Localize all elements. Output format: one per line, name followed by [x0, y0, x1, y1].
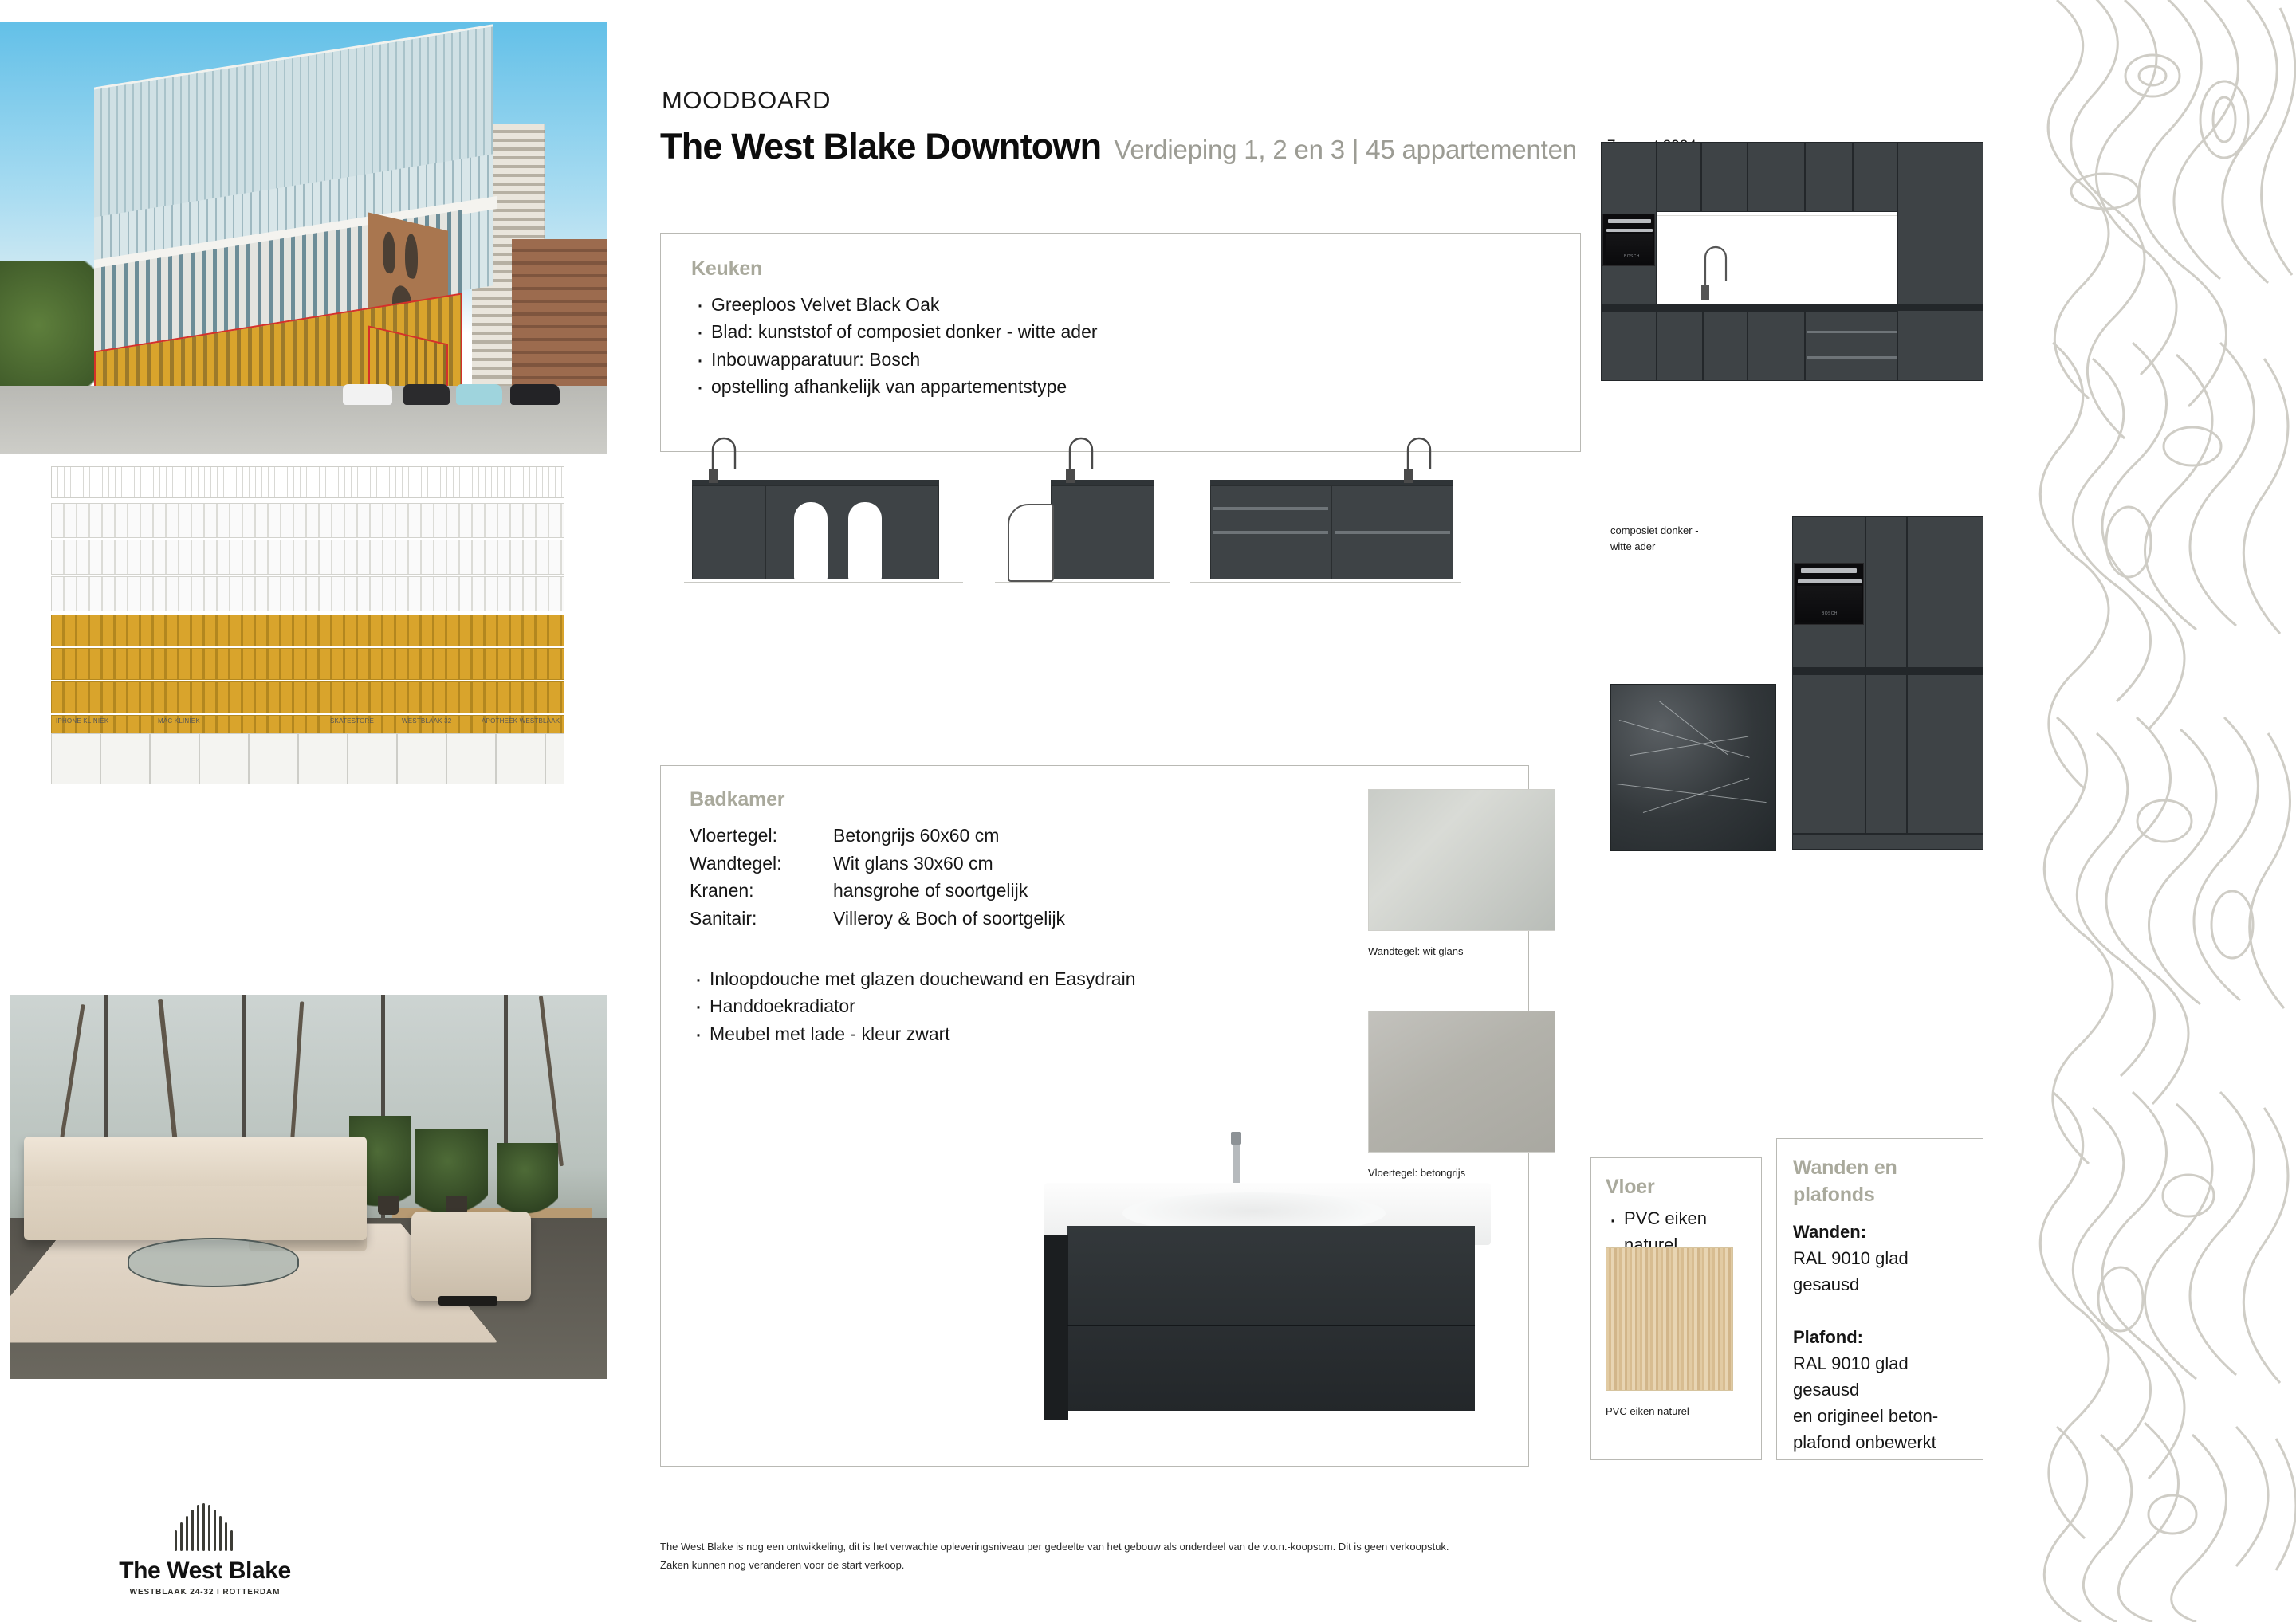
tall-cabinet	[1866, 516, 1907, 668]
wall-cabinet	[1805, 142, 1853, 212]
bathroom-spec-list: Vloertegel: Betongrijs 60x60 cm Wandtege…	[690, 822, 1184, 932]
oven-brand-label: BOSCH	[1624, 254, 1640, 259]
spec-value: hansgrohe of soortgelijk	[833, 877, 1028, 905]
oven-brand-label: BOSCH	[1822, 611, 1838, 616]
facade-floor	[51, 503, 564, 538]
bar-stool	[1008, 504, 1054, 582]
kitchen-panel: Keuken Greeploos Velvet Black Oak Blad: …	[660, 233, 1581, 452]
wanden-heading-line2: plafonds	[1793, 1184, 1875, 1207]
indoor-plant	[497, 1143, 558, 1219]
faucet-icon	[1699, 238, 1732, 302]
faucet-icon	[1402, 434, 1438, 485]
vanity-side-panel	[1044, 1235, 1068, 1420]
kitchen-bullet-list: Greeploos Velvet Black Oak Blad: kunstst…	[691, 291, 1098, 400]
marble-vein	[1659, 701, 1728, 756]
facade-roof	[51, 466, 564, 498]
lounge-chair-base	[438, 1296, 497, 1306]
kitchen-elevation-render: BOSCH	[1601, 142, 1983, 381]
spec-value: Wit glans 30x60 cm	[833, 850, 993, 878]
facade-floor	[51, 576, 564, 611]
spec-row: Sanitair: Villeroy & Boch of soortgelijk	[690, 905, 1184, 933]
ceiling-label: Plafond:	[1793, 1327, 1863, 1347]
page-kicker: MOODBOARD	[662, 86, 831, 115]
base-cabinet	[1657, 311, 1703, 381]
facade-label: WESTBLAAK 32	[402, 717, 451, 725]
wall-cabinet	[1657, 142, 1701, 212]
spec-row: Wandtegel: Wit glans 30x60 cm	[690, 850, 1184, 878]
ceiling-value-line3: plafond onbewerkt	[1793, 1432, 1936, 1452]
facade-elevation-drawing: IPHONE KLINIEK MAC KLINIEK SKATESTORE WE…	[45, 458, 571, 789]
composiet-caption-block: composiet donker - witte ader	[1610, 516, 1778, 553]
neighbouring-block	[512, 239, 607, 391]
worktop	[1601, 304, 1983, 311]
facade-floor-highlight	[51, 681, 564, 713]
base-cabinet	[1703, 311, 1748, 381]
facade-floor	[51, 540, 564, 575]
page-subtitle: Verdieping 1, 2 en 3 | 45 appartementen	[1114, 135, 1577, 165]
bar-stool	[848, 502, 882, 582]
tall-cabinet	[1907, 516, 1983, 668]
interior-lounge-photo	[10, 995, 607, 1379]
disclaimer-line1: The West Blake is nog een ontwikkeling, …	[660, 1538, 1673, 1557]
oven-control-panel	[1608, 219, 1651, 223]
kitchen-elevation-drawings	[660, 446, 1581, 598]
facade-tenant-labels: IPHONE KLINIEK MAC KLINIEK SKATESTORE WE…	[51, 717, 564, 729]
base-cabinet	[1866, 674, 1907, 834]
drawer-gap	[1067, 1325, 1475, 1326]
disclaimer-line2: Zaken kunnen nog veranderen voor de star…	[660, 1557, 1673, 1575]
oven-door-glass	[1606, 234, 1653, 265]
parked-car	[343, 384, 392, 405]
wall-cabinet	[1853, 142, 1897, 212]
plinth	[1792, 834, 1983, 850]
wall-tile-caption: Wandtegel: wit glans	[1368, 945, 1463, 959]
marble-vein	[1643, 778, 1749, 813]
facade-label: SKATESTORE	[330, 717, 374, 725]
facade-label: MAC KLINIEK	[158, 717, 200, 725]
bar-stool	[794, 502, 828, 582]
ground-line	[1190, 582, 1461, 583]
west-blake-logo: The West Blake WESTBLAAK 24-32 I ROTTERD…	[89, 1502, 320, 1596]
kitchen-heading: Keuken	[691, 257, 762, 281]
logo-name: The West Blake	[89, 1557, 320, 1585]
built-in-oven: BOSCH	[1794, 563, 1864, 625]
list-item: Inloopdouche met glazen douchewand en Ea…	[690, 965, 1152, 992]
plant-pot	[378, 1196, 399, 1215]
ceiling-value-line2: en origineel beton-	[1793, 1406, 1938, 1426]
island-body	[1051, 485, 1154, 579]
facade-floor-highlight	[51, 648, 564, 680]
spec-key: Sanitair:	[690, 905, 833, 933]
tall-cabinet-right	[1897, 142, 1983, 381]
base-cabinet	[1792, 674, 1866, 834]
ground-line	[995, 582, 1170, 583]
base-cabinet	[1748, 311, 1805, 381]
ceiling-value-line1: RAL 9010 glad gesausd	[1793, 1353, 1909, 1400]
spec-key: Wandtegel:	[690, 850, 833, 878]
vanity-cabinet	[1067, 1226, 1475, 1411]
backsplash	[1657, 215, 1897, 304]
logo-fan-icon	[168, 1502, 242, 1551]
list-item: Inbouwapparatuur: Bosch	[691, 346, 1098, 373]
exterior-render-image	[0, 22, 607, 454]
page-header-row: The West Blake Downtown Verdieping 1, 2 …	[660, 126, 1696, 167]
wall-cabinet	[1748, 142, 1805, 212]
list-item: opstelling afhankelijk van appartementst…	[691, 373, 1098, 400]
spec-row: Kranen: hansgrohe of soortgelijk	[690, 877, 1184, 905]
worktop	[1792, 668, 1983, 674]
oven-handle	[1798, 579, 1862, 583]
cabinet-front	[692, 485, 765, 579]
built-in-oven: BOSCH	[1602, 214, 1655, 266]
logo-address: WESTBLAAK 24-32 I ROTTERDAM	[89, 1588, 320, 1596]
sofa-backrest	[24, 1137, 367, 1186]
composiet-caption-line1: composiet donker -	[1610, 524, 1778, 538]
ground-line	[684, 582, 963, 583]
spec-row: Vloertegel: Betongrijs 60x60 cm	[690, 822, 1184, 850]
composiet-swatch	[1610, 684, 1776, 851]
glass-coffee-table	[128, 1238, 299, 1287]
list-item: Meubel met lade - kleur zwart	[690, 1020, 1152, 1047]
facade-label: IPHONE KLINIEK	[56, 717, 108, 725]
walls-value: RAL 9010 glad gesausd	[1793, 1248, 1909, 1294]
drawer-gap	[1807, 331, 1897, 333]
page-title: The West Blake Downtown	[660, 126, 1101, 167]
facade-ground-floor	[51, 733, 564, 784]
oven-door-glass	[1797, 586, 1862, 622]
drawer-stack	[1805, 311, 1897, 381]
wanden-heading-line1: Wanden en	[1793, 1157, 1897, 1180]
spec-key: Kranen:	[690, 877, 833, 905]
lounge-chair	[411, 1212, 531, 1301]
spec-key: Vloertegel:	[690, 822, 833, 850]
bathroom-vanity-render	[1028, 1130, 1507, 1449]
base-cabinet	[1601, 311, 1657, 381]
drawer-gap	[1213, 507, 1328, 510]
vloer-panel: Vloer PVC eiken naturel PVC eiken nature…	[1590, 1157, 1762, 1460]
facade-label: APOTHEEK WESTBLAAK	[482, 717, 560, 725]
kitchen-base-cabinets-elevation	[1210, 480, 1453, 582]
list-item: Handdoekradiator	[690, 992, 1152, 1019]
tall-unit-render: BOSCH	[1792, 516, 1983, 850]
drawer-gap	[1213, 531, 1328, 534]
kitchen-island-elevation-2	[1003, 480, 1154, 582]
left-media-column: IPHONE KLINIEK MAC KLINIEK SKATESTORE WE…	[0, 0, 614, 1622]
list-item: Greeploos Velvet Black Oak	[691, 291, 1098, 318]
spec-value: Betongrijs 60x60 cm	[833, 822, 999, 850]
main-content: MOODBOARD The West Blake Downtown Verdie…	[654, 0, 2025, 1622]
drawer-gap	[1335, 531, 1450, 534]
wanden-plafonds-panel: Wanden en plafonds Wanden: RAL 9010 glad…	[1776, 1138, 1983, 1460]
parked-car	[510, 384, 560, 405]
drawer-gap	[1807, 356, 1897, 359]
wall-cabinet	[1701, 142, 1748, 212]
facade-floor-highlight	[51, 615, 564, 646]
oven-handle	[1606, 229, 1653, 232]
faucet-icon	[706, 434, 743, 485]
composiet-caption-line2: witte ader	[1610, 540, 1778, 554]
bathroom-bullet-list: Inloopdouche met glazen douchewand en Ea…	[690, 965, 1152, 1047]
faucet-icon	[1063, 434, 1100, 485]
wood-floor-swatch	[1606, 1247, 1733, 1391]
spec-value: Villeroy & Boch of soortgelijk	[833, 905, 1065, 933]
wall-tile-swatch	[1368, 789, 1555, 931]
marble-vein	[1616, 784, 1767, 803]
disclaimer-text: The West Blake is nog een ontwikkeling, …	[660, 1538, 1673, 1575]
decorative-topographic-pattern	[2033, 0, 2296, 1622]
parked-car	[456, 384, 502, 405]
parked-car	[403, 384, 450, 405]
walls-label: Wanden:	[1793, 1222, 1866, 1242]
kitchen-island-elevation-1	[692, 480, 939, 582]
oven-control-panel	[1801, 568, 1857, 573]
vloer-heading: Vloer	[1606, 1176, 1655, 1199]
wood-caption: PVC eiken naturel	[1606, 1404, 1689, 1419]
list-item: Blad: kunststof of composiet donker - wi…	[691, 318, 1098, 345]
base-cabinet	[1907, 674, 1983, 834]
bathroom-heading: Badkamer	[690, 788, 784, 811]
